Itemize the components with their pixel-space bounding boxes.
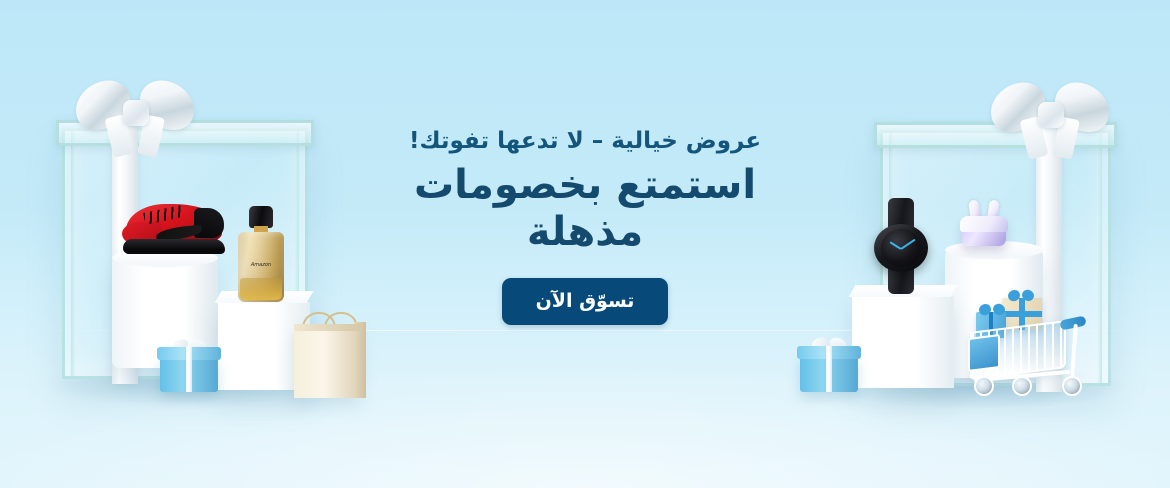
blue-gift-box-left (160, 340, 218, 392)
banner-copy-block: عروض خيالية – لا تدعها تفوتك! استمتع بخص… (0, 128, 1170, 325)
shop-now-button[interactable]: تسوّق الآن (502, 278, 669, 325)
cart-front-panel (968, 334, 1000, 372)
bow-knot (1038, 102, 1064, 128)
bow-knot (123, 100, 149, 126)
headline-line-1: استمتع بخصومات (414, 162, 756, 208)
promo-banner: Amazon (0, 0, 1170, 488)
bag-body (294, 326, 360, 398)
cart-wheel (1062, 376, 1082, 396)
banner-headline: استمتع بخصومات مذهلة (414, 162, 756, 256)
bag-top-fold (294, 324, 360, 331)
cart-wheel (974, 376, 994, 396)
bag-side-panel (354, 322, 366, 398)
banner-eyebrow: عروض خيالية – لا تدعها تفوتك! (409, 128, 761, 156)
headline-line-2: مذهلة (414, 209, 756, 256)
gift-ribbon (186, 347, 193, 392)
gift-ribbon (826, 346, 833, 392)
cart-post (1070, 324, 1078, 376)
cart-wheel (1012, 376, 1032, 396)
blue-gift-box-right (800, 338, 858, 392)
